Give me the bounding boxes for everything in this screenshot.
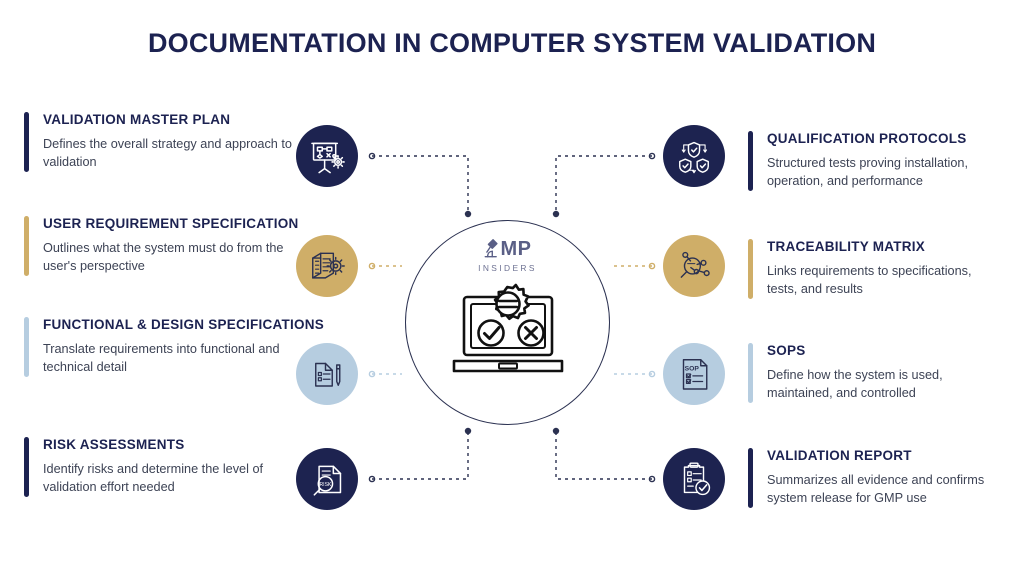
infographic-canvas: DOCUMENTATION IN COMPUTER SYSTEM VALIDAT… [0, 0, 1024, 576]
icon-circle-functional-design-specifications[interactable] [296, 343, 358, 405]
network-nodes-magnifier-icon [675, 247, 713, 285]
microscope-icon [483, 238, 500, 260]
clipboard-check-icon [675, 460, 713, 498]
sop-icon-label: SOP [685, 365, 700, 372]
info-block-heading: VALIDATION MASTER PLAN [43, 112, 295, 127]
sop-document-checklist-icon: SOP [676, 355, 712, 393]
document-pen-icon [309, 356, 345, 392]
info-block-body: Structured tests proving installation, o… [767, 154, 995, 191]
icon-circle-sops[interactable]: SOP [663, 343, 725, 405]
laptop-gear-validation-illustration [442, 281, 574, 394]
center-hub: MP INSIDERS [405, 220, 610, 425]
info-block-heading: QUALIFICATION PROTOCOLS [767, 131, 995, 146]
info-block-body: Links requirements to specifications, te… [767, 262, 999, 299]
document-magnifier-risk-icon: RISK [308, 460, 346, 498]
presentation-board-gear-icon [308, 137, 346, 175]
info-block-functional-design-specifications: FUNCTIONAL & DESIGN SPECIFICATIONS Trans… [24, 317, 324, 377]
info-block-body: Translate requirements into functional a… [43, 340, 293, 377]
logo-text: MP [500, 239, 531, 259]
info-block-body: Identify risks and determine the level o… [43, 460, 293, 497]
info-block-qualification-protocols: QUALIFICATION PROTOCOLS Structured tests… [748, 131, 995, 191]
info-block-body: Outlines what the system must do from th… [43, 239, 301, 276]
info-block-heading: RISK ASSESSMENTS [43, 437, 293, 452]
info-block-sops: SOPS Define how the system is used, main… [748, 343, 989, 403]
icon-circle-validation-report[interactable] [663, 448, 725, 510]
info-block-heading: TRACEABILITY MATRIX [767, 239, 999, 254]
icon-circle-validation-master-plan[interactable] [296, 125, 358, 187]
info-block-user-requirement-specification: USER REQUIREMENT SPECIFICATION Outlines … [24, 216, 301, 276]
info-block-validation-master-plan: VALIDATION MASTER PLAN Defines the overa… [24, 112, 295, 172]
document-checklist-gear-icon [308, 247, 346, 285]
icon-circle-user-requirement-specification[interactable] [296, 235, 358, 297]
info-block-heading: FUNCTIONAL & DESIGN SPECIFICATIONS [43, 317, 324, 332]
logo-subtitle: INSIDERS [478, 263, 537, 273]
three-shields-check-icon [675, 137, 713, 175]
icon-circle-risk-assessments[interactable]: RISK [296, 448, 358, 510]
risk-icon-label: RISK [320, 482, 332, 488]
icon-circle-traceability-matrix[interactable] [663, 235, 725, 297]
info-block-heading: SOPS [767, 343, 989, 358]
info-block-validation-report: VALIDATION REPORT Summarizes all evidenc… [748, 448, 1001, 508]
info-block-risk-assessments: RISK ASSESSMENTS Identify risks and dete… [24, 437, 293, 497]
info-block-heading: VALIDATION REPORT [767, 448, 1001, 463]
info-block-heading: USER REQUIREMENT SPECIFICATION [43, 216, 301, 231]
icon-circle-qualification-protocols[interactable] [663, 125, 725, 187]
info-block-body: Defines the overall strategy and approac… [43, 135, 295, 172]
info-block-traceability-matrix: TRACEABILITY MATRIX Links requirements t… [748, 239, 999, 299]
info-block-body: Define how the system is used, maintaine… [767, 366, 989, 403]
brand-logo: MP INSIDERS [478, 238, 537, 273]
info-block-body: Summarizes all evidence and confirms sys… [767, 471, 1001, 508]
page-title: DOCUMENTATION IN COMPUTER SYSTEM VALIDAT… [0, 28, 1024, 59]
